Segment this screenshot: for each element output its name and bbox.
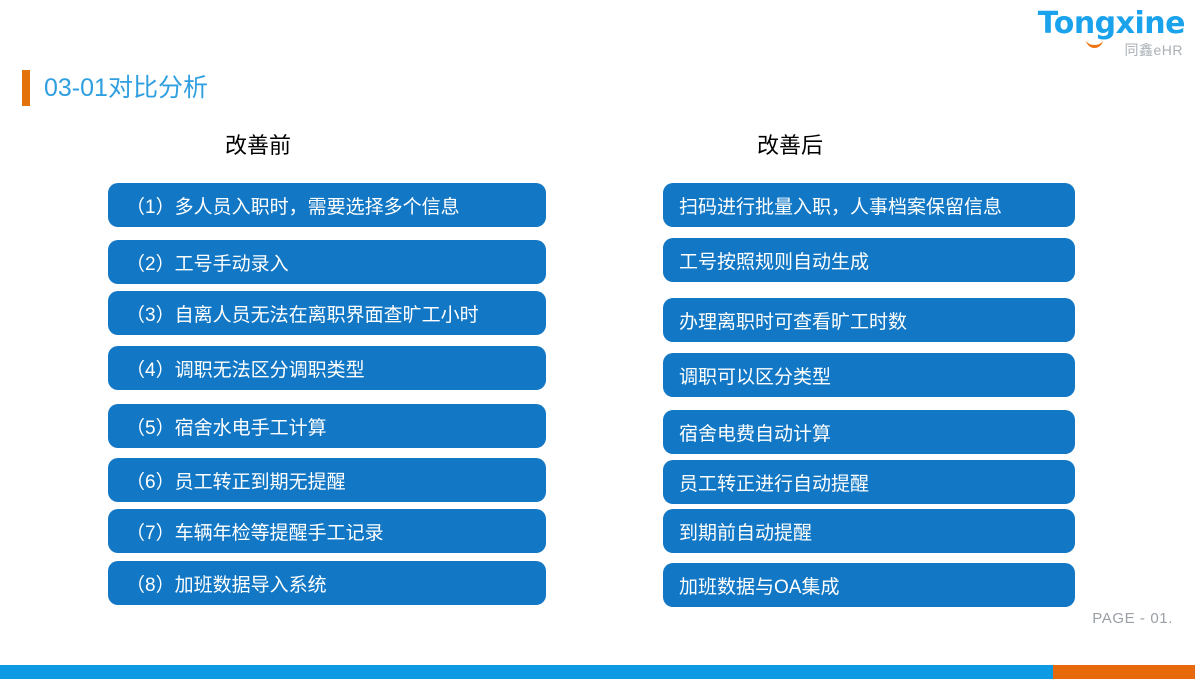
- list-item: （5）宿舍水电手工计算: [108, 404, 546, 448]
- page-title: 03-01对比分析: [22, 68, 208, 108]
- page-number-label: PAGE - 01.: [1092, 610, 1173, 627]
- list-item: （2）工号手动录入: [108, 240, 546, 284]
- list-item: （1）多人员入职时，需要选择多个信息: [108, 183, 546, 227]
- list-item: 办理离职时可查看旷工时数: [663, 298, 1075, 342]
- brand-logo: Tongxine 同鑫eHR: [1007, 8, 1187, 64]
- list-item: 加班数据与OA集成: [663, 563, 1075, 607]
- bottom-decor-bar-accent: [1053, 665, 1195, 679]
- list-item: （4）调职无法区分调职类型: [108, 346, 546, 390]
- bottom-decor-bar: [0, 665, 1195, 679]
- column-header-after: 改善后: [757, 128, 823, 160]
- page-title-text: 03-01对比分析: [44, 70, 208, 106]
- list-item: 到期前自动提醒: [663, 509, 1075, 553]
- list-item: 员工转正进行自动提醒: [663, 460, 1075, 504]
- list-item: 调职可以区分类型: [663, 353, 1075, 397]
- list-item: （6）员工转正到期无提醒: [108, 458, 546, 502]
- column-header-before: 改善前: [225, 128, 291, 160]
- title-accent-bar: [22, 70, 30, 106]
- list-item: 工号按照规则自动生成: [663, 238, 1075, 282]
- list-item: 宿舍电费自动计算: [663, 410, 1075, 454]
- list-item: （8）加班数据导入系统: [108, 561, 546, 605]
- list-item: （7）车辆年检等提醒手工记录: [108, 509, 546, 553]
- list-item: （3）自离人员无法在离职界面查旷工小时: [108, 291, 546, 335]
- list-item: 扫码进行批量入职，人事档案保留信息: [663, 183, 1075, 227]
